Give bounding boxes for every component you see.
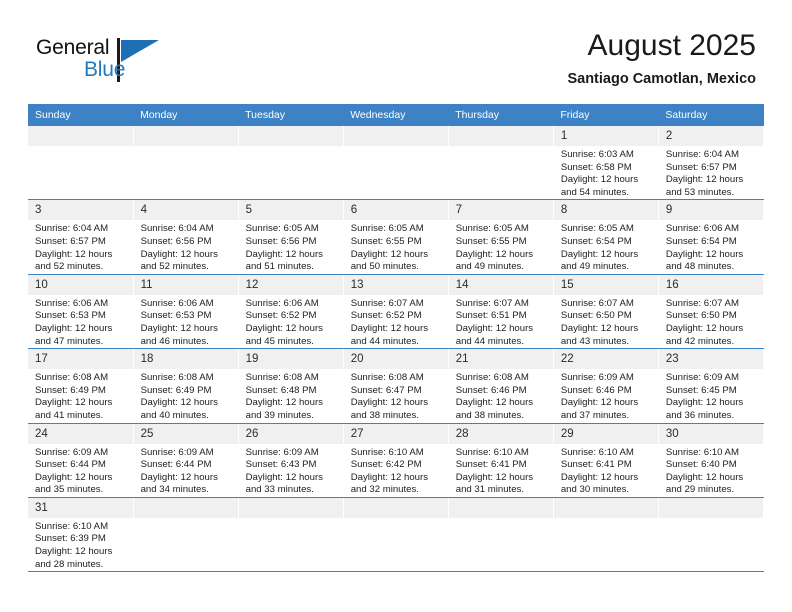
day-number: 26 bbox=[239, 424, 343, 444]
sunrise-text: Sunrise: 6:06 AM bbox=[246, 298, 343, 311]
calendar-week-row: 10Sunrise: 6:06 AMSunset: 6:53 PMDayligh… bbox=[28, 274, 764, 348]
sunrise-text: Sunrise: 6:10 AM bbox=[561, 447, 658, 460]
daylight-text: Daylight: 12 hours bbox=[141, 472, 238, 485]
calendar-week-row: 24Sunrise: 6:09 AMSunset: 6:44 PMDayligh… bbox=[28, 423, 764, 497]
daylight-text: and 35 minutes. bbox=[35, 484, 133, 497]
day-detail-block: Sunrise: 6:08 AMSunset: 6:48 PMDaylight:… bbox=[239, 369, 343, 422]
weekday-header-wednesday: Wednesday bbox=[343, 104, 448, 126]
daylight-text: Daylight: 12 hours bbox=[246, 472, 343, 485]
sunset-text: Sunset: 6:57 PM bbox=[666, 162, 763, 175]
daylight-text: and 43 minutes. bbox=[561, 336, 658, 349]
calendar-day-cell[interactable]: 6Sunrise: 6:05 AMSunset: 6:55 PMDaylight… bbox=[343, 200, 448, 274]
day-detail-block: Sunrise: 6:07 AMSunset: 6:50 PMDaylight:… bbox=[659, 295, 763, 348]
calendar-empty-cell bbox=[343, 497, 448, 571]
daylight-text: and 30 minutes. bbox=[561, 484, 658, 497]
sunset-text: Sunset: 6:52 PM bbox=[246, 310, 343, 323]
calendar-week-row: 17Sunrise: 6:08 AMSunset: 6:49 PMDayligh… bbox=[28, 349, 764, 423]
calendar-day-cell[interactable]: 1Sunrise: 6:03 AMSunset: 6:58 PMDaylight… bbox=[553, 126, 658, 200]
day-number: 27 bbox=[344, 424, 448, 444]
sunrise-text: Sunrise: 6:05 AM bbox=[246, 223, 343, 236]
calendar-day-cell[interactable]: 11Sunrise: 6:06 AMSunset: 6:53 PMDayligh… bbox=[133, 274, 238, 348]
daylight-text: Daylight: 12 hours bbox=[561, 323, 658, 336]
sunrise-text: Sunrise: 6:08 AM bbox=[351, 372, 448, 385]
daylight-text: Daylight: 12 hours bbox=[351, 323, 448, 336]
day-detail-block: Sunrise: 6:06 AMSunset: 6:54 PMDaylight:… bbox=[659, 220, 763, 273]
daylight-text: Daylight: 12 hours bbox=[666, 397, 763, 410]
day-number bbox=[134, 498, 238, 518]
sunrise-text: Sunrise: 6:06 AM bbox=[666, 223, 763, 236]
day-number bbox=[659, 498, 763, 518]
sunset-text: Sunset: 6:56 PM bbox=[141, 236, 238, 249]
daylight-text: Daylight: 12 hours bbox=[351, 472, 448, 485]
sunset-text: Sunset: 6:46 PM bbox=[561, 385, 658, 398]
sunset-text: Sunset: 6:49 PM bbox=[35, 385, 133, 398]
calendar-day-cell[interactable]: 9Sunrise: 6:06 AMSunset: 6:54 PMDaylight… bbox=[658, 200, 763, 274]
logo-text-general: General bbox=[36, 36, 109, 60]
day-detail-block bbox=[239, 518, 343, 521]
daylight-text: Daylight: 12 hours bbox=[246, 323, 343, 336]
sunrise-text: Sunrise: 6:05 AM bbox=[561, 223, 658, 236]
sunrise-text: Sunrise: 6:04 AM bbox=[141, 223, 238, 236]
day-number: 20 bbox=[344, 349, 448, 369]
sunset-text: Sunset: 6:41 PM bbox=[561, 459, 658, 472]
day-number: 2 bbox=[659, 126, 763, 146]
sunset-text: Sunset: 6:55 PM bbox=[351, 236, 448, 249]
day-detail-block: Sunrise: 6:08 AMSunset: 6:49 PMDaylight:… bbox=[134, 369, 238, 422]
daylight-text: and 39 minutes. bbox=[246, 410, 343, 423]
daylight-text: Daylight: 12 hours bbox=[351, 397, 448, 410]
day-number: 6 bbox=[344, 200, 448, 220]
day-detail-block bbox=[344, 518, 448, 521]
weekday-header-tuesday: Tuesday bbox=[238, 104, 343, 126]
day-number: 4 bbox=[134, 200, 238, 220]
sunrise-text: Sunrise: 6:07 AM bbox=[561, 298, 658, 311]
day-detail-block: Sunrise: 6:05 AMSunset: 6:54 PMDaylight:… bbox=[554, 220, 658, 273]
calendar-empty-cell bbox=[658, 497, 763, 571]
day-number: 14 bbox=[449, 275, 553, 295]
daylight-text: and 49 minutes. bbox=[561, 261, 658, 274]
daylight-text: Daylight: 12 hours bbox=[666, 323, 763, 336]
daylight-text: Daylight: 12 hours bbox=[456, 323, 553, 336]
sunrise-text: Sunrise: 6:08 AM bbox=[35, 372, 133, 385]
day-detail-block bbox=[344, 146, 448, 149]
sunset-text: Sunset: 6:42 PM bbox=[351, 459, 448, 472]
day-detail-block: Sunrise: 6:09 AMSunset: 6:44 PMDaylight:… bbox=[134, 444, 238, 497]
sunset-text: Sunset: 6:52 PM bbox=[351, 310, 448, 323]
day-detail-block: Sunrise: 6:07 AMSunset: 6:50 PMDaylight:… bbox=[554, 295, 658, 348]
sunset-text: Sunset: 6:54 PM bbox=[561, 236, 658, 249]
daylight-text: and 53 minutes. bbox=[666, 187, 763, 200]
calendar-day-cell[interactable]: 29Sunrise: 6:10 AMSunset: 6:41 PMDayligh… bbox=[553, 423, 658, 497]
calendar-day-cell[interactable]: 23Sunrise: 6:09 AMSunset: 6:45 PMDayligh… bbox=[658, 349, 763, 423]
daylight-text: Daylight: 12 hours bbox=[35, 472, 133, 485]
sunrise-text: Sunrise: 6:10 AM bbox=[351, 447, 448, 460]
sunset-text: Sunset: 6:56 PM bbox=[246, 236, 343, 249]
weekday-header-thursday: Thursday bbox=[448, 104, 553, 126]
daylight-text: Daylight: 12 hours bbox=[666, 472, 763, 485]
sunrise-text: Sunrise: 6:05 AM bbox=[456, 223, 553, 236]
day-detail-block: Sunrise: 6:07 AMSunset: 6:51 PMDaylight:… bbox=[449, 295, 553, 348]
page-header: General Blue August 2025 Santiago Camotl… bbox=[0, 0, 792, 100]
sunset-text: Sunset: 6:48 PM bbox=[246, 385, 343, 398]
daylight-text: and 48 minutes. bbox=[666, 261, 763, 274]
sunrise-text: Sunrise: 6:04 AM bbox=[35, 223, 133, 236]
calendar-day-cell[interactable]: 7Sunrise: 6:05 AMSunset: 6:55 PMDaylight… bbox=[448, 200, 553, 274]
day-detail-block: Sunrise: 6:08 AMSunset: 6:49 PMDaylight:… bbox=[28, 369, 133, 422]
daylight-text: Daylight: 12 hours bbox=[141, 323, 238, 336]
day-detail-block bbox=[554, 518, 658, 521]
weekday-header-saturday: Saturday bbox=[658, 104, 763, 126]
sunrise-text: Sunrise: 6:06 AM bbox=[141, 298, 238, 311]
daylight-text: Daylight: 12 hours bbox=[561, 249, 658, 262]
day-detail-block bbox=[134, 146, 238, 149]
day-detail-block: Sunrise: 6:05 AMSunset: 6:55 PMDaylight:… bbox=[344, 220, 448, 273]
daylight-text: Daylight: 12 hours bbox=[351, 249, 448, 262]
calendar-day-cell[interactable]: 31Sunrise: 6:10 AMSunset: 6:39 PMDayligh… bbox=[28, 497, 133, 571]
calendar-day-cell[interactable]: 8Sunrise: 6:05 AMSunset: 6:54 PMDaylight… bbox=[553, 200, 658, 274]
weekday-header-sunday: Sunday bbox=[28, 104, 133, 126]
page-subtitle: Santiago Camotlan, Mexico bbox=[567, 68, 756, 90]
calendar-empty-cell bbox=[133, 497, 238, 571]
day-detail-block: Sunrise: 6:04 AMSunset: 6:57 PMDaylight:… bbox=[659, 146, 763, 199]
daylight-text: Daylight: 12 hours bbox=[35, 249, 133, 262]
day-detail-block: Sunrise: 6:10 AMSunset: 6:42 PMDaylight:… bbox=[344, 444, 448, 497]
daylight-text: Daylight: 12 hours bbox=[456, 472, 553, 485]
daylight-text: and 29 minutes. bbox=[666, 484, 763, 497]
daylight-text: Daylight: 12 hours bbox=[456, 397, 553, 410]
sunrise-text: Sunrise: 6:07 AM bbox=[351, 298, 448, 311]
calendar-day-cell[interactable]: 15Sunrise: 6:07 AMSunset: 6:50 PMDayligh… bbox=[553, 274, 658, 348]
day-detail-block bbox=[449, 518, 553, 521]
day-number: 18 bbox=[134, 349, 238, 369]
weekday-header-monday: Monday bbox=[133, 104, 238, 126]
calendar-day-cell[interactable]: 17Sunrise: 6:08 AMSunset: 6:49 PMDayligh… bbox=[28, 349, 133, 423]
sunrise-text: Sunrise: 6:08 AM bbox=[246, 372, 343, 385]
calendar-day-cell[interactable]: 13Sunrise: 6:07 AMSunset: 6:52 PMDayligh… bbox=[343, 274, 448, 348]
weekday-header-row: Sunday Monday Tuesday Wednesday Thursday… bbox=[28, 104, 764, 126]
daylight-text: Daylight: 12 hours bbox=[141, 397, 238, 410]
calendar-empty-cell bbox=[448, 497, 553, 571]
daylight-text: Daylight: 12 hours bbox=[35, 397, 133, 410]
sunrise-text: Sunrise: 6:07 AM bbox=[456, 298, 553, 311]
sunset-text: Sunset: 6:58 PM bbox=[561, 162, 658, 175]
daylight-text: Daylight: 12 hours bbox=[246, 397, 343, 410]
sunset-text: Sunset: 6:53 PM bbox=[35, 310, 133, 323]
daylight-text: and 42 minutes. bbox=[666, 336, 763, 349]
day-number bbox=[239, 126, 343, 146]
calendar-week-row: 31Sunrise: 6:10 AMSunset: 6:39 PMDayligh… bbox=[28, 497, 764, 571]
day-number: 30 bbox=[659, 424, 763, 444]
daylight-text: and 44 minutes. bbox=[351, 336, 448, 349]
title-block: August 2025 Santiago Camotlan, Mexico bbox=[567, 28, 756, 90]
page-title: August 2025 bbox=[567, 28, 756, 64]
daylight-text: Daylight: 12 hours bbox=[561, 397, 658, 410]
daylight-text: and 32 minutes. bbox=[351, 484, 448, 497]
sunset-text: Sunset: 6:57 PM bbox=[35, 236, 133, 249]
sunset-text: Sunset: 6:50 PM bbox=[561, 310, 658, 323]
sunrise-text: Sunrise: 6:09 AM bbox=[246, 447, 343, 460]
daylight-text: and 38 minutes. bbox=[351, 410, 448, 423]
daylight-text: and 44 minutes. bbox=[456, 336, 553, 349]
calendar-empty-cell bbox=[238, 497, 343, 571]
day-number: 31 bbox=[28, 498, 133, 518]
day-number: 5 bbox=[239, 200, 343, 220]
daylight-text: and 36 minutes. bbox=[666, 410, 763, 423]
sunrise-text: Sunrise: 6:08 AM bbox=[141, 372, 238, 385]
calendar-day-cell[interactable]: 2Sunrise: 6:04 AMSunset: 6:57 PMDaylight… bbox=[658, 126, 763, 200]
day-detail-block: Sunrise: 6:09 AMSunset: 6:45 PMDaylight:… bbox=[659, 369, 763, 422]
daylight-text: Daylight: 12 hours bbox=[246, 249, 343, 262]
sunset-text: Sunset: 6:46 PM bbox=[456, 385, 553, 398]
day-number: 28 bbox=[449, 424, 553, 444]
daylight-text: and 50 minutes. bbox=[351, 261, 448, 274]
day-number bbox=[134, 126, 238, 146]
day-detail-block bbox=[449, 146, 553, 149]
day-detail-block: Sunrise: 6:09 AMSunset: 6:43 PMDaylight:… bbox=[239, 444, 343, 497]
calendar-empty-cell bbox=[28, 126, 133, 200]
day-detail-block: Sunrise: 6:03 AMSunset: 6:58 PMDaylight:… bbox=[554, 146, 658, 199]
sunset-text: Sunset: 6:39 PM bbox=[35, 533, 133, 546]
day-detail-block: Sunrise: 6:04 AMSunset: 6:57 PMDaylight:… bbox=[28, 220, 133, 273]
calendar-day-cell[interactable]: 3Sunrise: 6:04 AMSunset: 6:57 PMDaylight… bbox=[28, 200, 133, 274]
calendar-day-cell[interactable]: 27Sunrise: 6:10 AMSunset: 6:42 PMDayligh… bbox=[343, 423, 448, 497]
day-number: 3 bbox=[28, 200, 133, 220]
calendar-empty-cell bbox=[343, 126, 448, 200]
day-detail-block: Sunrise: 6:10 AMSunset: 6:39 PMDaylight:… bbox=[28, 518, 133, 571]
weekday-header-friday: Friday bbox=[553, 104, 658, 126]
day-detail-block: Sunrise: 6:07 AMSunset: 6:52 PMDaylight:… bbox=[344, 295, 448, 348]
day-detail-block bbox=[659, 518, 763, 521]
calendar-table: Sunday Monday Tuesday Wednesday Thursday… bbox=[28, 104, 764, 572]
calendar-empty-cell bbox=[448, 126, 553, 200]
day-number: 11 bbox=[134, 275, 238, 295]
sunrise-text: Sunrise: 6:10 AM bbox=[666, 447, 763, 460]
sunrise-text: Sunrise: 6:10 AM bbox=[456, 447, 553, 460]
calendar-day-cell[interactable]: 30Sunrise: 6:10 AMSunset: 6:40 PMDayligh… bbox=[658, 423, 763, 497]
sunset-text: Sunset: 6:50 PM bbox=[666, 310, 763, 323]
day-detail-block: Sunrise: 6:09 AMSunset: 6:46 PMDaylight:… bbox=[554, 369, 658, 422]
general-blue-logo: General Blue bbox=[36, 36, 166, 88]
day-detail-block: Sunrise: 6:10 AMSunset: 6:41 PMDaylight:… bbox=[449, 444, 553, 497]
sunset-text: Sunset: 6:40 PM bbox=[666, 459, 763, 472]
day-number: 15 bbox=[554, 275, 658, 295]
day-detail-block: Sunrise: 6:06 AMSunset: 6:52 PMDaylight:… bbox=[239, 295, 343, 348]
sunrise-text: Sunrise: 6:09 AM bbox=[666, 372, 763, 385]
sunrise-text: Sunrise: 6:10 AM bbox=[35, 521, 133, 534]
daylight-text: and 51 minutes. bbox=[246, 261, 343, 274]
daylight-text: and 31 minutes. bbox=[456, 484, 553, 497]
calendar-day-cell[interactable]: 20Sunrise: 6:08 AMSunset: 6:47 PMDayligh… bbox=[343, 349, 448, 423]
sunset-text: Sunset: 6:45 PM bbox=[666, 385, 763, 398]
calendar-week-row: 1Sunrise: 6:03 AMSunset: 6:58 PMDaylight… bbox=[28, 126, 764, 200]
daylight-text: and 28 minutes. bbox=[35, 559, 133, 572]
day-number: 24 bbox=[28, 424, 133, 444]
sunset-text: Sunset: 6:43 PM bbox=[246, 459, 343, 472]
day-detail-block bbox=[134, 518, 238, 521]
day-number bbox=[344, 498, 448, 518]
sunrise-text: Sunrise: 6:05 AM bbox=[351, 223, 448, 236]
day-number bbox=[554, 498, 658, 518]
sunset-text: Sunset: 6:53 PM bbox=[141, 310, 238, 323]
calendar-empty-cell bbox=[238, 126, 343, 200]
day-number: 9 bbox=[659, 200, 763, 220]
sunset-text: Sunset: 6:51 PM bbox=[456, 310, 553, 323]
sunset-text: Sunset: 6:44 PM bbox=[141, 459, 238, 472]
day-number bbox=[344, 126, 448, 146]
daylight-text: and 47 minutes. bbox=[35, 336, 133, 349]
day-detail-block: Sunrise: 6:06 AMSunset: 6:53 PMDaylight:… bbox=[134, 295, 238, 348]
calendar-day-cell[interactable]: 12Sunrise: 6:06 AMSunset: 6:52 PMDayligh… bbox=[238, 274, 343, 348]
daylight-text: Daylight: 12 hours bbox=[35, 323, 133, 336]
calendar-day-cell[interactable]: 4Sunrise: 6:04 AMSunset: 6:56 PMDaylight… bbox=[133, 200, 238, 274]
calendar-day-cell[interactable]: 19Sunrise: 6:08 AMSunset: 6:48 PMDayligh… bbox=[238, 349, 343, 423]
day-number: 8 bbox=[554, 200, 658, 220]
sunset-text: Sunset: 6:49 PM bbox=[141, 385, 238, 398]
daylight-text: and 49 minutes. bbox=[456, 261, 553, 274]
day-detail-block: Sunrise: 6:04 AMSunset: 6:56 PMDaylight:… bbox=[134, 220, 238, 273]
sunset-text: Sunset: 6:55 PM bbox=[456, 236, 553, 249]
logo-text-blue: Blue bbox=[84, 58, 125, 82]
day-detail-block: Sunrise: 6:05 AMSunset: 6:56 PMDaylight:… bbox=[239, 220, 343, 273]
daylight-text: and 52 minutes. bbox=[141, 261, 238, 274]
daylight-text: and 33 minutes. bbox=[246, 484, 343, 497]
day-number: 29 bbox=[554, 424, 658, 444]
calendar-week-row: 3Sunrise: 6:04 AMSunset: 6:57 PMDaylight… bbox=[28, 200, 764, 274]
daylight-text: Daylight: 12 hours bbox=[456, 249, 553, 262]
day-detail-block: Sunrise: 6:06 AMSunset: 6:53 PMDaylight:… bbox=[28, 295, 133, 348]
daylight-text: and 37 minutes. bbox=[561, 410, 658, 423]
calendar-day-cell[interactable]: 5Sunrise: 6:05 AMSunset: 6:56 PMDaylight… bbox=[238, 200, 343, 274]
daylight-text: Daylight: 12 hours bbox=[35, 546, 133, 559]
day-detail-block: Sunrise: 6:05 AMSunset: 6:55 PMDaylight:… bbox=[449, 220, 553, 273]
day-detail-block: Sunrise: 6:10 AMSunset: 6:41 PMDaylight:… bbox=[554, 444, 658, 497]
calendar-day-cell[interactable]: 22Sunrise: 6:09 AMSunset: 6:46 PMDayligh… bbox=[553, 349, 658, 423]
daylight-text: Daylight: 12 hours bbox=[561, 472, 658, 485]
calendar-day-cell[interactable]: 28Sunrise: 6:10 AMSunset: 6:41 PMDayligh… bbox=[448, 423, 553, 497]
day-number: 25 bbox=[134, 424, 238, 444]
day-detail-block: Sunrise: 6:08 AMSunset: 6:46 PMDaylight:… bbox=[449, 369, 553, 422]
sunrise-text: Sunrise: 6:09 AM bbox=[141, 447, 238, 460]
daylight-text: and 46 minutes. bbox=[141, 336, 238, 349]
day-number: 19 bbox=[239, 349, 343, 369]
daylight-text: and 34 minutes. bbox=[141, 484, 238, 497]
day-detail-block bbox=[239, 146, 343, 149]
calendar-body: 1Sunrise: 6:03 AMSunset: 6:58 PMDaylight… bbox=[28, 126, 764, 572]
calendar-day-cell[interactable]: 25Sunrise: 6:09 AMSunset: 6:44 PMDayligh… bbox=[133, 423, 238, 497]
sunrise-text: Sunrise: 6:03 AM bbox=[561, 149, 658, 162]
sunrise-text: Sunrise: 6:09 AM bbox=[561, 372, 658, 385]
day-number: 13 bbox=[344, 275, 448, 295]
sunrise-text: Sunrise: 6:07 AM bbox=[666, 298, 763, 311]
calendar-day-cell[interactable]: 21Sunrise: 6:08 AMSunset: 6:46 PMDayligh… bbox=[448, 349, 553, 423]
day-number: 12 bbox=[239, 275, 343, 295]
calendar-day-cell[interactable]: 14Sunrise: 6:07 AMSunset: 6:51 PMDayligh… bbox=[448, 274, 553, 348]
calendar-page: General Blue August 2025 Santiago Camotl… bbox=[0, 0, 792, 612]
sunset-text: Sunset: 6:41 PM bbox=[456, 459, 553, 472]
sunrise-text: Sunrise: 6:04 AM bbox=[666, 149, 763, 162]
day-number: 1 bbox=[554, 126, 658, 146]
calendar-day-cell[interactable]: 18Sunrise: 6:08 AMSunset: 6:49 PMDayligh… bbox=[133, 349, 238, 423]
sunset-text: Sunset: 6:54 PM bbox=[666, 236, 763, 249]
calendar-empty-cell bbox=[553, 497, 658, 571]
daylight-text: and 41 minutes. bbox=[35, 410, 133, 423]
daylight-text: and 38 minutes. bbox=[456, 410, 553, 423]
daylight-text: and 52 minutes. bbox=[35, 261, 133, 274]
day-detail-block bbox=[28, 146, 133, 149]
sunset-text: Sunset: 6:47 PM bbox=[351, 385, 448, 398]
calendar-day-cell[interactable]: 16Sunrise: 6:07 AMSunset: 6:50 PMDayligh… bbox=[658, 274, 763, 348]
calendar-empty-cell bbox=[133, 126, 238, 200]
sunrise-text: Sunrise: 6:08 AM bbox=[456, 372, 553, 385]
day-number: 10 bbox=[28, 275, 133, 295]
daylight-text: Daylight: 12 hours bbox=[141, 249, 238, 262]
day-number: 22 bbox=[554, 349, 658, 369]
day-number: 23 bbox=[659, 349, 763, 369]
day-number: 21 bbox=[449, 349, 553, 369]
day-number bbox=[239, 498, 343, 518]
day-detail-block: Sunrise: 6:08 AMSunset: 6:47 PMDaylight:… bbox=[344, 369, 448, 422]
daylight-text: Daylight: 12 hours bbox=[561, 174, 658, 187]
day-number bbox=[449, 126, 553, 146]
day-number: 17 bbox=[28, 349, 133, 369]
calendar-day-cell[interactable]: 24Sunrise: 6:09 AMSunset: 6:44 PMDayligh… bbox=[28, 423, 133, 497]
daylight-text: Daylight: 12 hours bbox=[666, 249, 763, 262]
day-detail-block: Sunrise: 6:09 AMSunset: 6:44 PMDaylight:… bbox=[28, 444, 133, 497]
day-number: 7 bbox=[449, 200, 553, 220]
day-number bbox=[28, 126, 133, 146]
calendar-day-cell[interactable]: 26Sunrise: 6:09 AMSunset: 6:43 PMDayligh… bbox=[238, 423, 343, 497]
blue-flag-triangle-icon bbox=[121, 40, 159, 62]
sunrise-text: Sunrise: 6:06 AM bbox=[35, 298, 133, 311]
day-number bbox=[449, 498, 553, 518]
sunrise-text: Sunrise: 6:09 AM bbox=[35, 447, 133, 460]
day-detail-block: Sunrise: 6:10 AMSunset: 6:40 PMDaylight:… bbox=[659, 444, 763, 497]
calendar-day-cell[interactable]: 10Sunrise: 6:06 AMSunset: 6:53 PMDayligh… bbox=[28, 274, 133, 348]
daylight-text: Daylight: 12 hours bbox=[666, 174, 763, 187]
day-number: 16 bbox=[659, 275, 763, 295]
daylight-text: and 40 minutes. bbox=[141, 410, 238, 423]
daylight-text: and 45 minutes. bbox=[246, 336, 343, 349]
daylight-text: and 54 minutes. bbox=[561, 187, 658, 200]
sunset-text: Sunset: 6:44 PM bbox=[35, 459, 133, 472]
